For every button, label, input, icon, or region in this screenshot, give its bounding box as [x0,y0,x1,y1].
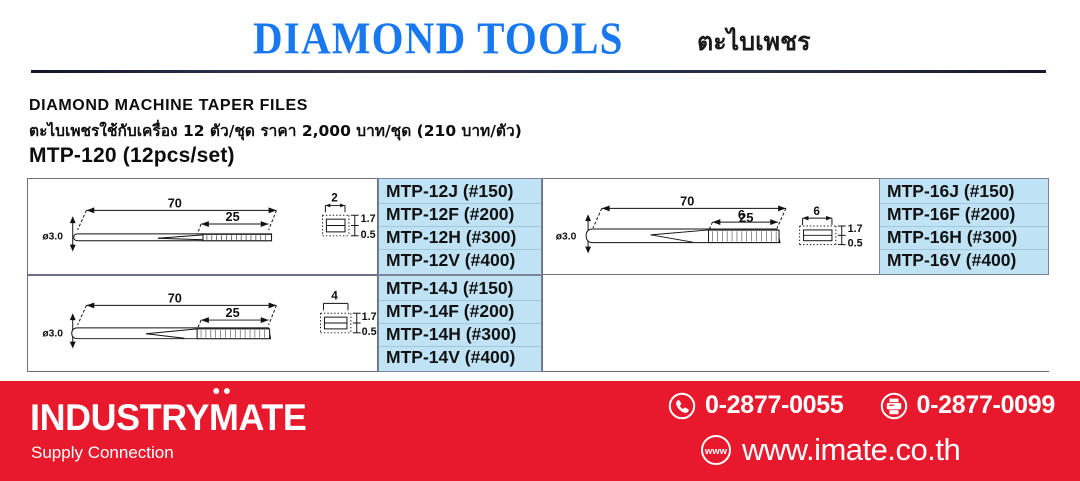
file-drawing-mtp-16: ø3.0 70 6 6 1.7 0.5 [543,179,879,274]
contact-row-website[interactable]: www www.imate.co.th [700,432,960,468]
product-code[interactable]: MTP-16J (#150) [880,181,1048,203]
code-cell-mtp-14[interactable]: MTP-14J (#150) MTP-14F (#200) MTP-14H (#… [378,275,542,372]
dim-width-mtp-16: 6 [813,205,820,218]
product-code[interactable]: MTP-14H (#300) [379,323,541,346]
contact-row-phone-fax: 0-2877-0055 0-2877-0099 [668,391,1055,420]
product-code[interactable]: MTP-16H (#300) [880,226,1048,249]
dim-height-top-mtp-14: 1.7 [362,311,377,323]
dim-length-cut-mtp-12: 25 [226,209,240,224]
dim-height-top-mtp-12: 1.7 [361,213,376,225]
product-table: ø3.0 70 25 2 1.7 0.5 MTP-12J (#150) MTP-… [27,178,1049,372]
phone-icon [668,392,696,420]
section-title: DIAMOND MACHINE TAPER FILES [29,97,308,115]
dim-length-total-mtp-14: 70 [168,290,182,305]
dim-length-cut-label-mtp-16: 25 [739,210,753,225]
product-code[interactable]: MTP-14J (#150) [379,278,541,300]
file-drawing-mtp-14: ø3.0 70 25 4 1.7 0.5 [28,276,377,371]
code-cell-mtp-12[interactable]: MTP-12J (#150) MTP-12F (#200) MTP-12H (#… [378,178,542,275]
product-code[interactable]: MTP-12V (#400) [379,249,541,272]
dim-height-bottom-mtp-14: 0.5 [362,326,377,338]
diagram-cell-mtp-16: ø3.0 70 6 6 1.7 0.5 25 [542,178,879,275]
product-code[interactable]: MTP-12F (#200) [379,203,541,226]
dim-diameter-mtp-14: ø3.0 [42,329,63,340]
dim-diameter-mtp-12: ø3.0 [42,232,63,243]
company-logo: INDUSTRYMATE [30,397,306,439]
logo-text-ate: ATE [239,397,307,438]
product-code[interactable]: MTP-14V (#400) [379,346,541,369]
dim-width-mtp-12: 2 [331,192,338,205]
page-header: DIAMOND TOOLS ตะไบเพชร [0,0,1080,72]
dim-width-mtp-14: 4 [331,290,338,303]
dim-height-bottom-mtp-16: 0.5 [848,238,863,250]
fax-number: 0-2877-0099 [917,391,1056,420]
product-code[interactable]: MTP-12H (#300) [379,226,541,249]
diagram-cell-mtp-14: ø3.0 70 25 4 1.7 0.5 [27,275,378,372]
logo-text-industry: INDUSTRY [30,397,209,438]
company-tagline: Supply Connection [31,443,174,463]
dim-length-total-mtp-16: 70 [680,193,694,208]
code-cell-mtp-16[interactable]: MTP-16J (#150) MTP-16F (#200) MTP-16H (#… [879,178,1049,275]
dim-diameter-mtp-16: ø3.0 [556,232,577,243]
dim-height-bottom-mtp-12: 0.5 [361,229,376,241]
product-code[interactable]: MTP-16V (#400) [880,249,1048,272]
page-title: DIAMOND TOOLS [253,11,624,65]
catalog-page: DIAMOND TOOLS ตะไบเพชร DIAMOND MACHINE T… [0,0,1080,481]
product-code[interactable]: MTP-16F (#200) [880,203,1048,226]
product-code-heading: MTP-120 (12pcs/set) [29,144,235,168]
svg-text:www: www [704,446,728,457]
dim-length-total-mtp-12: 70 [168,195,182,210]
product-code[interactable]: MTP-14F (#200) [379,300,541,323]
page-title-thai: ตะไบเพชร [697,22,811,62]
www-icon: www [700,434,732,466]
file-drawing-mtp-12: ø3.0 70 25 2 1.7 0.5 [28,179,377,274]
website-url[interactable]: www.imate.co.th [742,432,960,468]
diagram-cell-mtp-12: ø3.0 70 25 2 1.7 0.5 [27,178,378,275]
empty-table-cell [542,275,1049,372]
fax-icon [880,392,908,420]
header-divider [31,70,1046,73]
section-subtitle-thai: ตะไบเพชรใช้กับเครื่อง 12 ตัว/ชุด ราคา 2,… [29,118,522,143]
phone-number: 0-2877-0055 [705,391,844,420]
dim-height-top-mtp-16: 1.7 [848,223,863,235]
dim-length-cut-mtp-14: 25 [226,305,240,320]
product-code[interactable]: MTP-12J (#150) [379,181,541,203]
logo-text-m: M [209,397,239,439]
